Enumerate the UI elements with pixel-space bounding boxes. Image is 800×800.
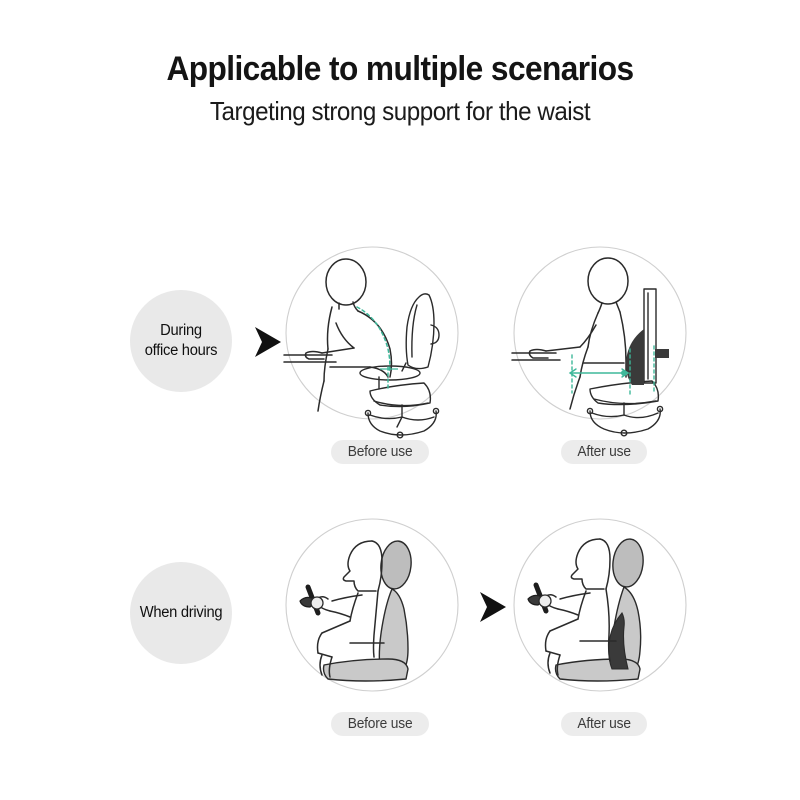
- illustration-driving-before: [284, 517, 460, 693]
- infographic-page: Applicable to multiple scenarios Targeti…: [0, 0, 800, 800]
- caption-label: After use: [577, 716, 630, 732]
- scenario-badge-label: When driving: [133, 603, 230, 623]
- caption-before-use: Before use: [331, 712, 429, 736]
- illustration-office-before: [284, 245, 460, 421]
- arrow-right-icon: [253, 325, 283, 359]
- arrow-right-icon: [478, 590, 508, 624]
- caption-before-use: Before use: [331, 440, 429, 464]
- header: Applicable to multiple scenarios Targeti…: [0, 50, 800, 127]
- caption-after-use: After use: [561, 440, 647, 464]
- illustration-driving-after: [512, 517, 688, 693]
- scenario-badge-label: During office hours: [133, 321, 230, 361]
- caption-after-use: After use: [561, 712, 647, 736]
- page-subtitle: Targeting strong support for the waist: [28, 97, 772, 127]
- caption-label: Before use: [348, 716, 413, 732]
- illustration-office-after: [512, 245, 688, 421]
- caption-label: After use: [577, 444, 630, 460]
- caption-label: Before use: [348, 444, 413, 460]
- scenario-row-driving: When driving: [0, 487, 800, 737]
- scenario-badge-driving: When driving: [130, 562, 232, 664]
- scenario-badge-office: During office hours: [130, 290, 232, 392]
- page-title: Applicable to multiple scenarios: [28, 50, 772, 88]
- scenario-row-office: During office hours: [0, 215, 800, 465]
